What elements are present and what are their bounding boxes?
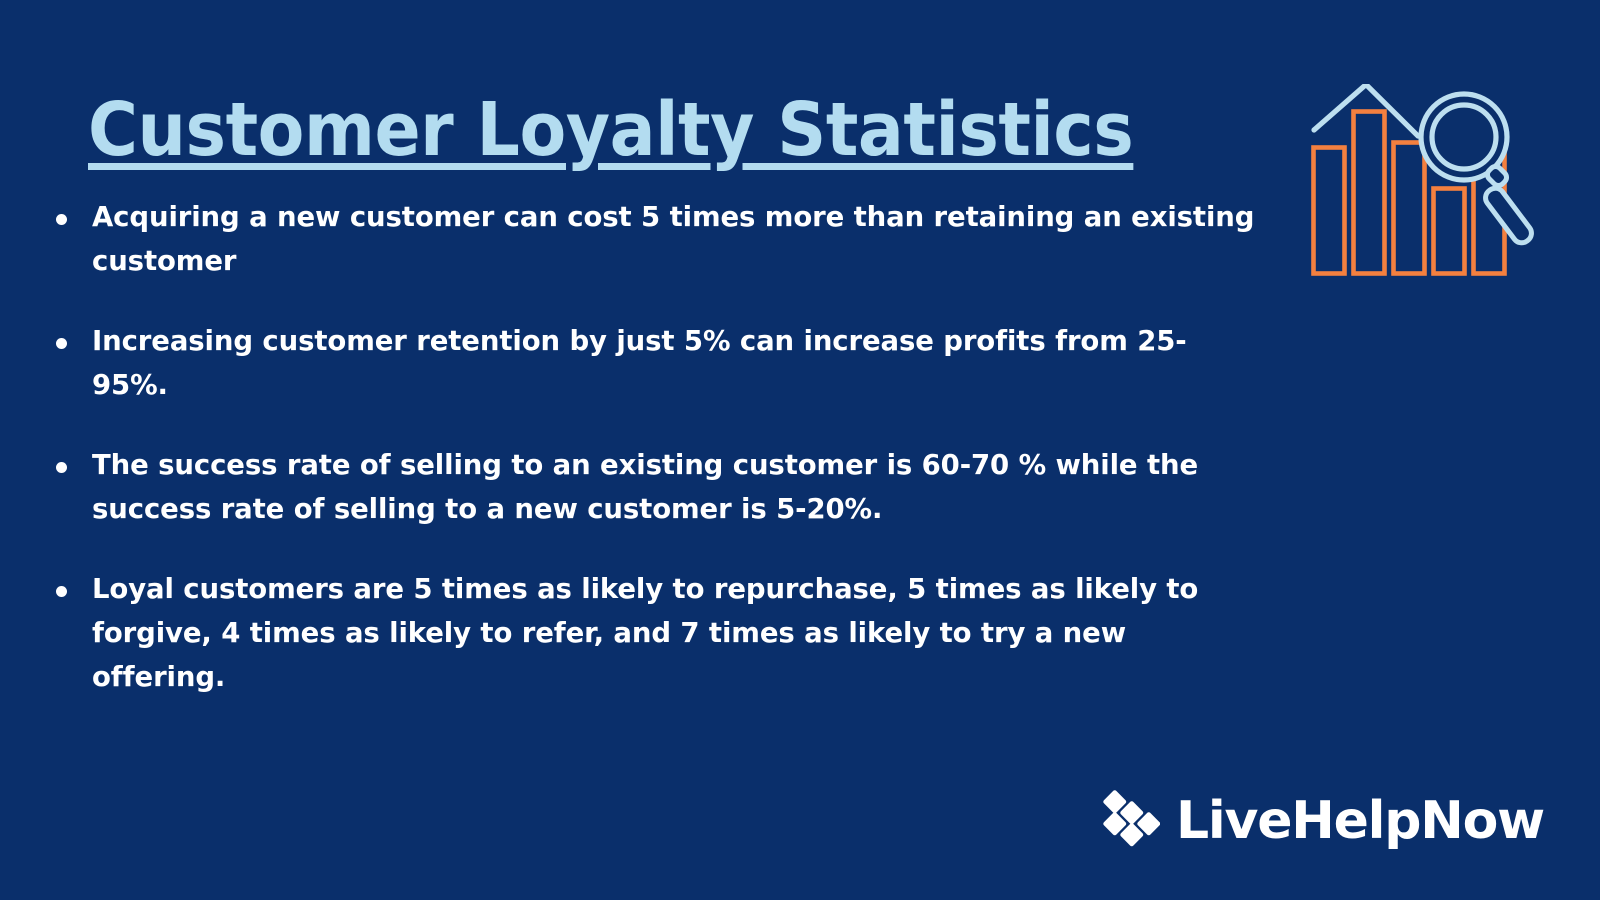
slide-canvas: Customer Loyalty Statistics Acquiring a … [0,0,1600,900]
statistics-bullet-list: Acquiring a new customer can cost 5 time… [56,195,1256,699]
livehelpnow-logo: LiveHelpNow [1098,790,1544,852]
logo-wordmark: LiveHelpNow [1176,795,1544,847]
bar-4 [1434,189,1465,274]
page-title: Customer Loyalty Statistics [88,93,1146,168]
list-item: Loyal customers are 5 times as likely to… [56,567,1256,699]
list-item: Acquiring a new customer can cost 5 time… [56,195,1256,283]
bullet-dot-icon [56,586,67,597]
bar-chart-magnifier-icon [1296,84,1536,299]
magnifier-handle-icon [1482,185,1535,247]
list-item-text: Acquiring a new customer can cost 5 time… [92,195,1256,283]
bullet-dot-icon [56,214,67,225]
list-item-text: Loyal customers are 5 times as likely to… [92,567,1256,699]
diamond-cluster-logo-mark [1098,790,1160,852]
list-item-text: Increasing customer retention by just 5%… [92,319,1256,407]
bar-3 [1394,143,1425,274]
bullet-dot-icon [56,338,67,349]
list-item-text: The success rate of selling to an existi… [92,443,1256,531]
bar-2 [1354,112,1385,274]
bullet-dot-icon [56,462,67,473]
list-item: Increasing customer retention by just 5%… [56,319,1256,407]
list-item: The success rate of selling to an existi… [56,443,1256,531]
bar-1 [1314,148,1345,274]
magnifier-icon [1421,94,1535,246]
